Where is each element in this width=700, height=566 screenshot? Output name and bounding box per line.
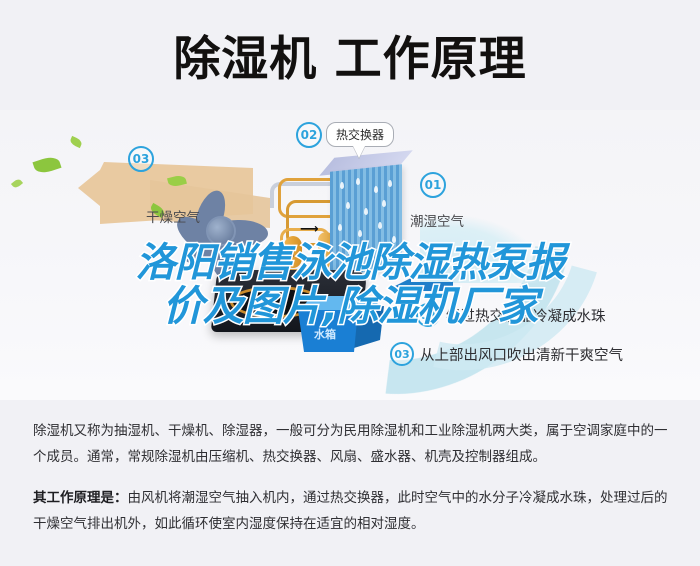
paragraph-1: 除湿机又称为抽湿机、干燥机、除湿器，一般可分为民用除湿机和工业除湿机两大类，属于… [33, 418, 673, 471]
paragraph-2: 其工作原理是：由风机将潮湿空气抽入机内，通过热交换器，此时空气中的水分子冷凝成水… [33, 485, 673, 538]
illustration-stage: ⟶ ↑ ↓ [0, 110, 700, 400]
paragraph-2-text: 由风机将潮湿空气抽入机内，通过热交换器，此时空气中的水分子冷凝成水珠，处理过后的… [33, 490, 668, 531]
leaf-icon [69, 136, 83, 148]
dry-air-label: 干燥空气 [146, 206, 200, 226]
water-tank-label: 水箱 [314, 326, 336, 342]
badge-02: 02 [296, 122, 322, 148]
air-inlet-arrow-icon [395, 278, 453, 294]
water-tank-icon: 水箱 [298, 296, 384, 352]
paragraph-2-label: 其工作原理是： [33, 490, 128, 505]
humid-air-label: 潮湿空气 [410, 210, 464, 230]
page-title-text: 除湿机 工作原理 [173, 36, 526, 83]
heat-exchanger-callout: 热交换器 [326, 122, 394, 147]
leaf-icon [11, 178, 23, 190]
step-02-text: 经过热交换器冷凝成水珠 [446, 305, 606, 326]
step-03-text: 从上部出风口吹出清新干爽空气 [420, 344, 623, 365]
badge-02-inline: 02 [416, 303, 440, 327]
page-root: 除湿机 工作原理 ⟶ ↑ [0, 0, 700, 566]
page-title: 除湿机 工作原理 [0, 24, 700, 94]
flow-arrow-right-icon: ⟶ [300, 222, 319, 235]
badge-03-inline: 03 [390, 342, 414, 366]
condensation-drops-icon [334, 174, 398, 270]
badge-01: 01 [420, 172, 446, 198]
badge-03: 03 [128, 146, 154, 172]
article-body: 除湿机又称为抽湿机、干燥机、除湿器，一般可分为民用除湿机和工业除湿机两大类，属于… [33, 418, 673, 551]
step-line-03: 03 从上部出风口吹出清新干爽空气 [390, 342, 623, 366]
leaf-icon [32, 154, 61, 175]
flow-arrow-up-icon: ↑ [290, 245, 297, 258]
step-line-02: 02 经过热交换器冷凝成水珠 [416, 303, 606, 327]
